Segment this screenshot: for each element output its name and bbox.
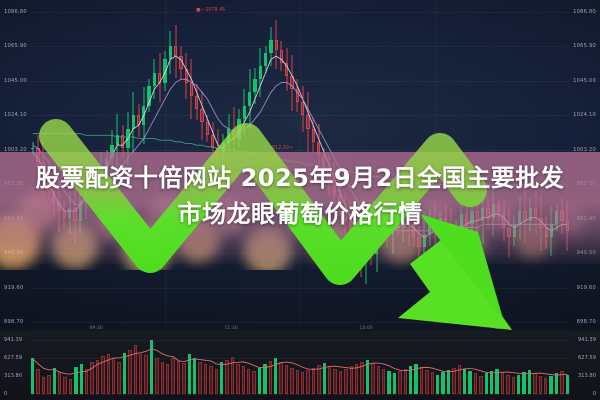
volume-axis-tick: 941.39 — [4, 337, 22, 343]
volume-axis-tick: 627.59 — [4, 355, 22, 361]
time-axis-tick: 09:30 — [90, 326, 103, 331]
price-axis-tick: 1024.10 — [4, 112, 27, 118]
high-annotation: ■—1079.45 — [196, 8, 225, 13]
title-line-2: 市场龙眼葡萄价格行情 — [0, 196, 600, 232]
volume-axis-tick: 313.80 — [578, 373, 596, 379]
price-axis-tick: 1086.80 — [573, 9, 596, 15]
page-title: 股票配资十倍网站 2025年9月2日全国主要批发 市场龙眼葡萄价格行情 — [0, 160, 600, 232]
volume-axis-tick: 0 — [593, 391, 596, 397]
price-axis-tick: 1065.90 — [4, 43, 27, 49]
volume-ma-polyline — [33, 349, 568, 375]
time-axis-tick: 14:00 — [360, 326, 373, 331]
price-axis-tick: 898.70 — [4, 319, 23, 325]
low-annotation: 912.20→ — [272, 146, 293, 151]
price-axis-tick: 1065.90 — [573, 43, 596, 49]
volume-axis-tick: 313.80 — [4, 373, 22, 379]
price-axis-tick: 1045.00 — [573, 78, 596, 84]
time-axis-tick: 15:00 — [495, 326, 508, 331]
price-axis-tick: 1086.80 — [4, 9, 27, 15]
volume-axis-tick: 627.59 — [578, 355, 596, 361]
time-axis-tick: 11:30 — [225, 326, 238, 331]
price-axis-tick: 919.60 — [577, 285, 596, 291]
volume-axis-tick: 941.39 — [578, 337, 596, 343]
volume-ma-line — [0, 330, 600, 400]
price-axis-tick: 898.70 — [577, 319, 596, 325]
title-line-1: 股票配资十倍网站 2025年9月2日全国主要批发 — [0, 160, 600, 196]
price-axis-tick: 919.60 — [4, 285, 23, 291]
volume-axis-tick: 0 — [4, 391, 7, 397]
chart-screenshot: 1086.801086.801065.901065.901045.001045.… — [0, 0, 600, 400]
price-axis-tick: 1045.00 — [4, 78, 27, 84]
price-axis-tick: 1024.10 — [573, 112, 596, 118]
volume-panel: 941.39941.39627.59627.59313.80313.8000 — [0, 330, 600, 400]
